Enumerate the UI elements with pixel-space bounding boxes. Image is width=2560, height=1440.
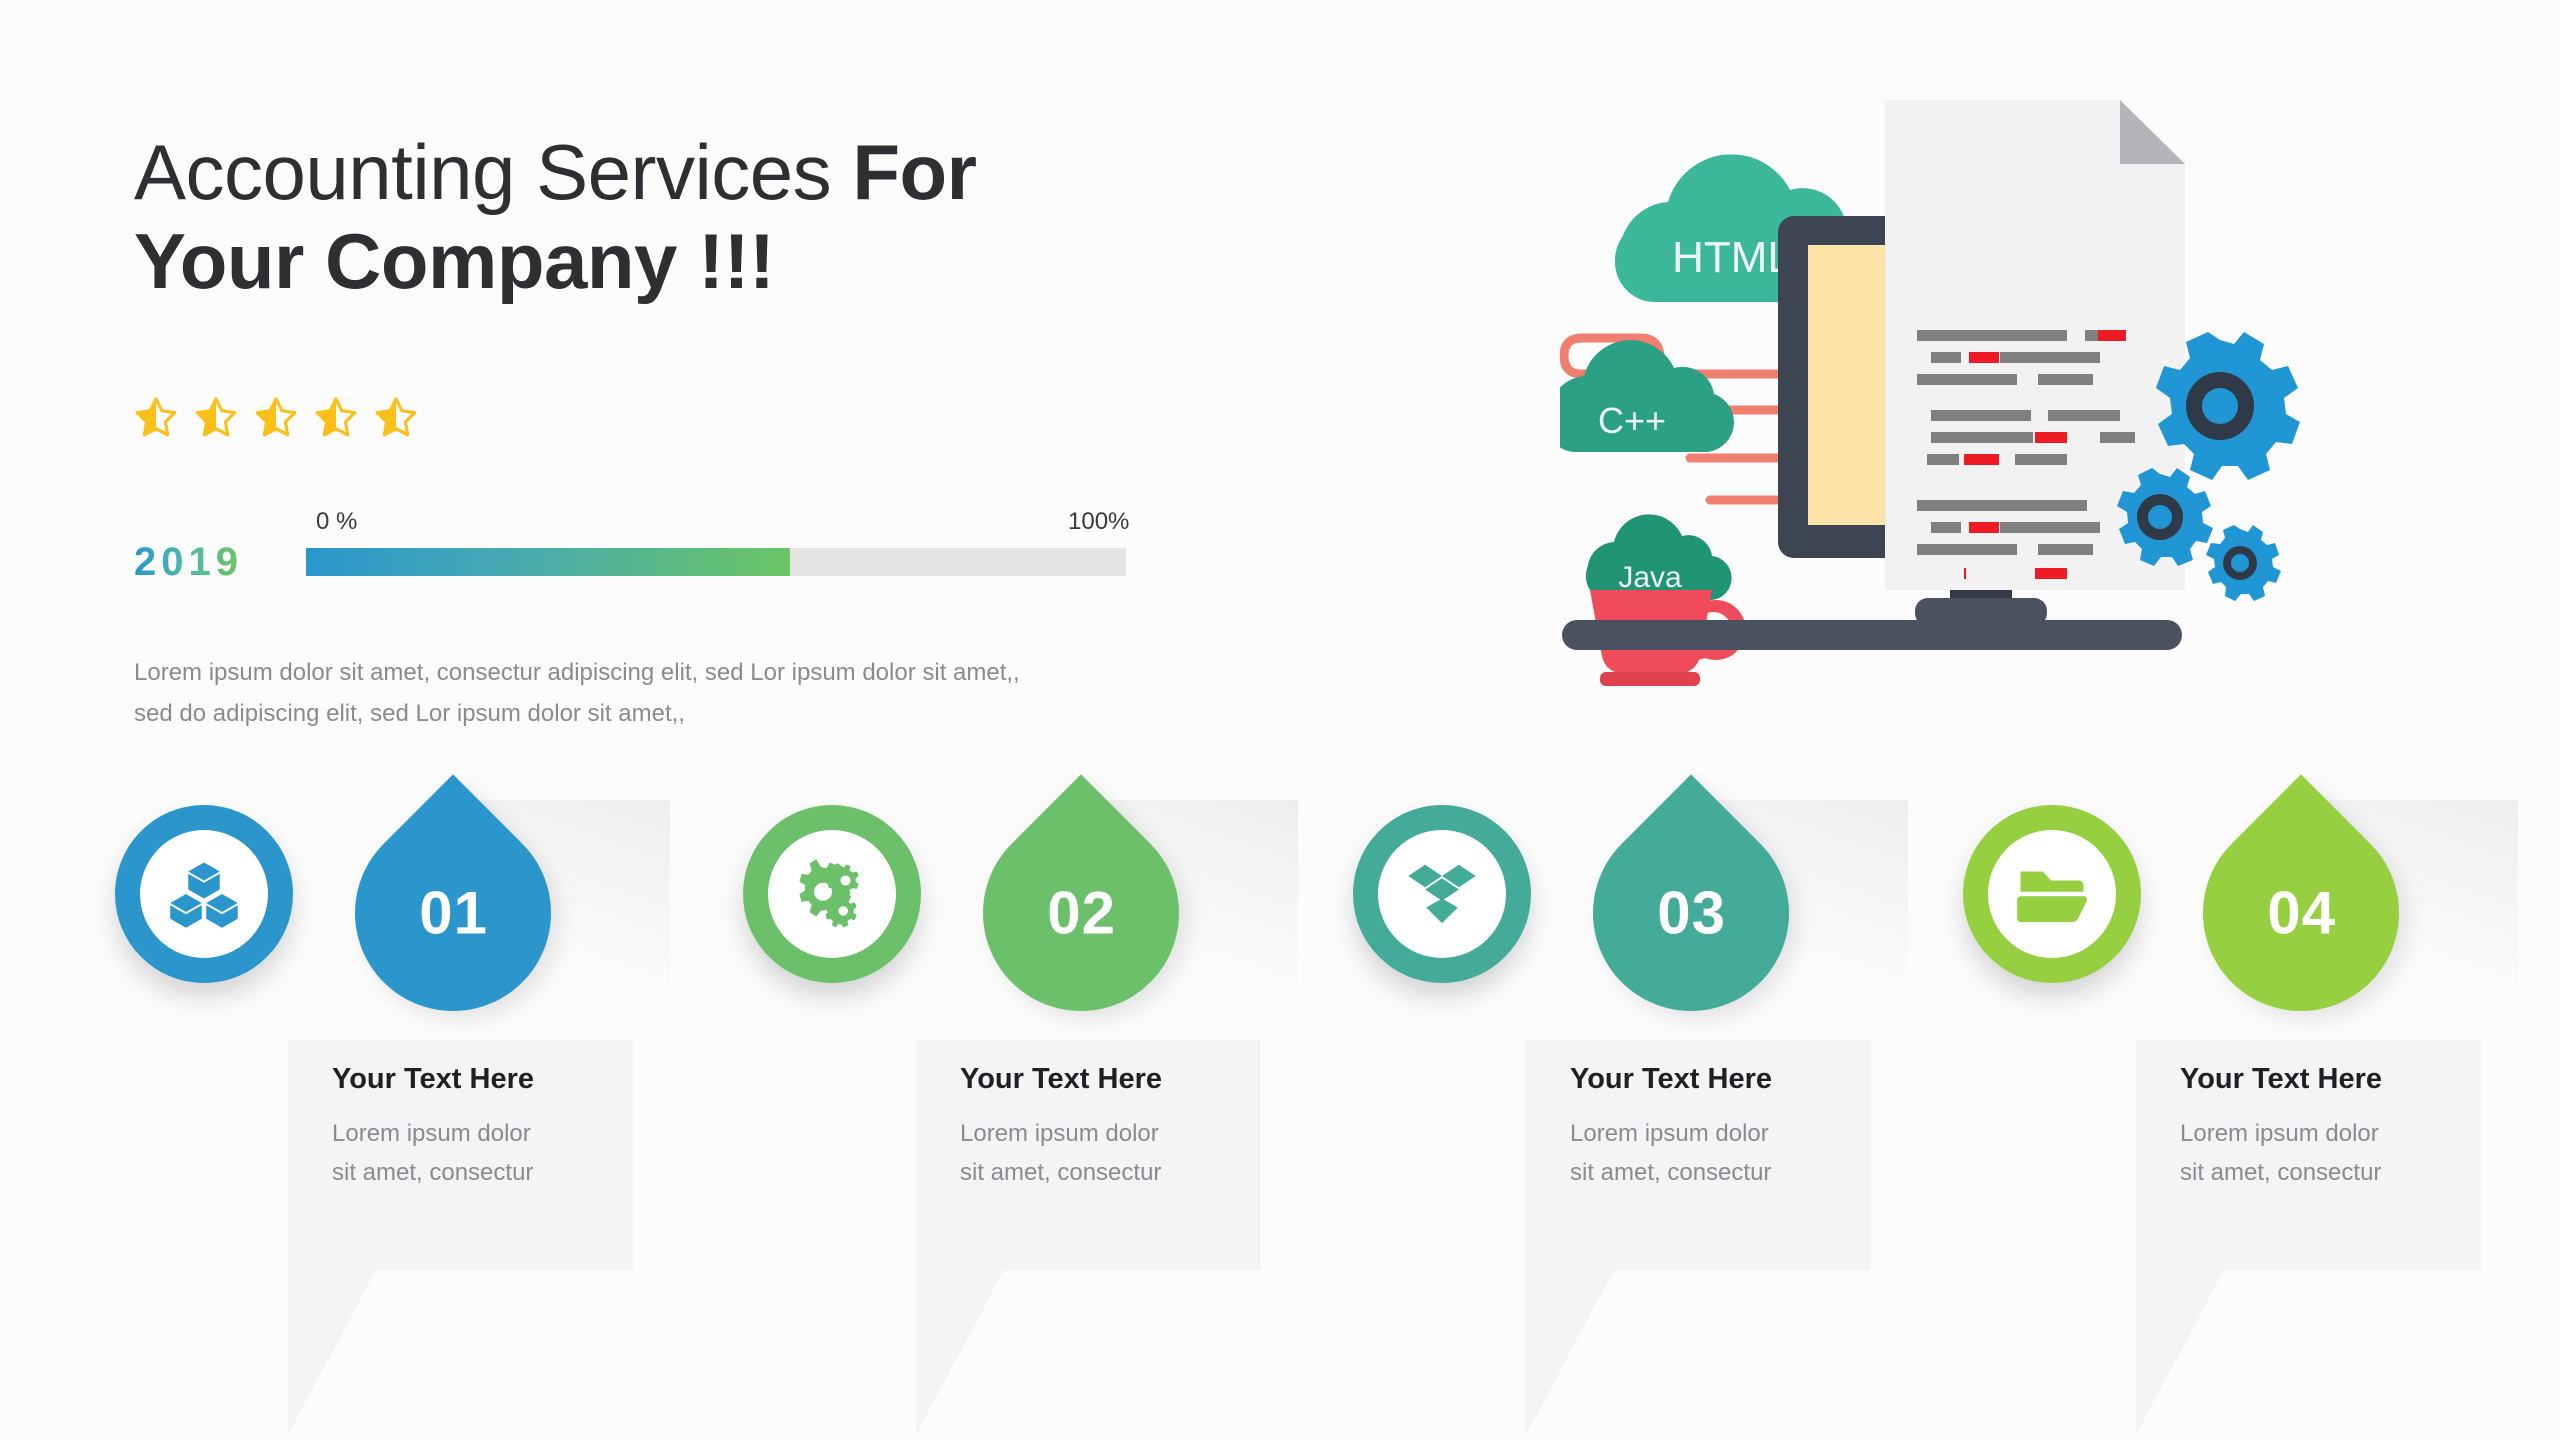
card-tail <box>916 1270 1004 1435</box>
gears-icon <box>796 858 868 930</box>
card-number-badge[interactable]: 01 <box>314 774 591 1051</box>
card-body-line-1: Lorem ipsum dolor <box>960 1115 1260 1154</box>
card-number: 02 <box>1047 879 1116 948</box>
progress-min-label: 0 % <box>316 508 357 536</box>
card-number-badge[interactable]: 03 <box>1552 774 1829 1051</box>
progress-bar-track[interactable] <box>306 548 1126 576</box>
feature-card-02[interactable]: 02 Your Text Here Lorem ipsum dolor <box>738 795 1298 1355</box>
card-number: 03 <box>1657 879 1726 948</box>
feature-card-03[interactable]: 03 Your Text Here Lorem ipsum dolor <box>1348 795 1908 1355</box>
feature-card-04[interactable]: 04 Your Text Here Lorem ipsum dolor sit … <box>1958 795 2518 1355</box>
open-folder-icon <box>2016 858 2088 930</box>
card-body-line-2: sit amet, consectur <box>1570 1154 1870 1193</box>
card-icon-circle <box>1988 830 2116 958</box>
card-title: Your Text Here <box>2180 1063 2382 1096</box>
lead-line-1: Lorem ipsum dolor sit amet, consectur ad… <box>134 652 1204 693</box>
cpp-cloud-label: C++ <box>1598 400 1666 441</box>
half-star-icon[interactable] <box>194 396 238 440</box>
page-title-bold-for: For <box>852 128 976 216</box>
card-icon-circle <box>768 830 896 958</box>
card-body: Lorem ipsum dolor sit amet, consectur <box>1570 1115 1870 1193</box>
java-cloud: Java <box>1586 514 1732 600</box>
card-icon-ring[interactable] <box>1963 805 2141 983</box>
lead-line-2: sed do adipiscing elit, sed Lor ipsum do… <box>134 693 1204 734</box>
card-title: Your Text Here <box>960 1063 1162 1096</box>
card-number: 01 <box>419 879 488 948</box>
page-title-light: Accounting Services <box>134 128 852 216</box>
slide-canvas: Accounting Services For Your Company !!!… <box>0 0 2560 1440</box>
gear-small-icon <box>2206 525 2281 601</box>
half-star-icon[interactable] <box>134 396 178 440</box>
half-star-icon[interactable] <box>314 396 358 440</box>
page-title: Accounting Services For Your Company !!! <box>134 128 1254 306</box>
card-body-line-2: sit amet, consectur <box>2180 1154 2480 1193</box>
card-title: Your Text Here <box>332 1063 534 1096</box>
dropbox-icon <box>1406 858 1478 930</box>
card-body-line-1: Lorem ipsum dolor <box>332 1115 632 1154</box>
card-tail <box>288 1270 376 1435</box>
card-body-line-1: Lorem ipsum dolor <box>1570 1115 1870 1154</box>
coding-illustration: HTML C++ Java <box>1560 90 2500 710</box>
card-icon-circle <box>140 830 268 958</box>
cubes-icon <box>168 858 240 930</box>
card-body-line-2: sit amet, consectur <box>332 1154 632 1193</box>
half-star-icon[interactable] <box>254 396 298 440</box>
card-body: Lorem ipsum dolor sit amet, consectur <box>332 1115 632 1193</box>
progress-bar-fill <box>306 548 790 576</box>
progress-max-label: 100% <box>1068 508 1129 536</box>
year-label: 2019 <box>134 540 243 585</box>
card-icon-ring[interactable] <box>1353 805 1531 983</box>
card-number: 04 <box>2267 879 2336 948</box>
card-body-line-1: Lorem ipsum dolor <box>2180 1115 2480 1154</box>
rating-stars[interactable] <box>134 396 418 440</box>
card-tail <box>1526 1270 1614 1435</box>
half-star-icon[interactable] <box>374 396 418 440</box>
html-cloud-label: HTML <box>1672 233 1792 282</box>
card-icon-ring[interactable] <box>115 805 293 983</box>
cpp-cloud: C++ <box>1560 340 1734 452</box>
card-body: Lorem ipsum dolor sit amet, consectur <box>2180 1115 2480 1193</box>
java-cloud-label: Java <box>1618 561 1682 594</box>
page-title-bold-line2: Your Company !!! <box>134 217 775 305</box>
card-body-line-2: sit amet, consectur <box>960 1154 1260 1193</box>
card-body: Lorem ipsum dolor sit amet, consectur <box>960 1115 1260 1193</box>
card-icon-ring[interactable] <box>743 805 921 983</box>
card-number-badge[interactable]: 02 <box>942 774 1219 1051</box>
feature-card-01[interactable]: 01 Your Text Here Lorem ipsum dolor sit … <box>110 795 670 1355</box>
card-icon-circle <box>1378 830 1506 958</box>
card-title: Your Text Here <box>1570 1063 1772 1096</box>
card-number-badge[interactable]: 04 <box>2162 774 2439 1051</box>
card-tail <box>2136 1270 2224 1435</box>
lead-paragraph: Lorem ipsum dolor sit amet, consectur ad… <box>134 652 1204 735</box>
